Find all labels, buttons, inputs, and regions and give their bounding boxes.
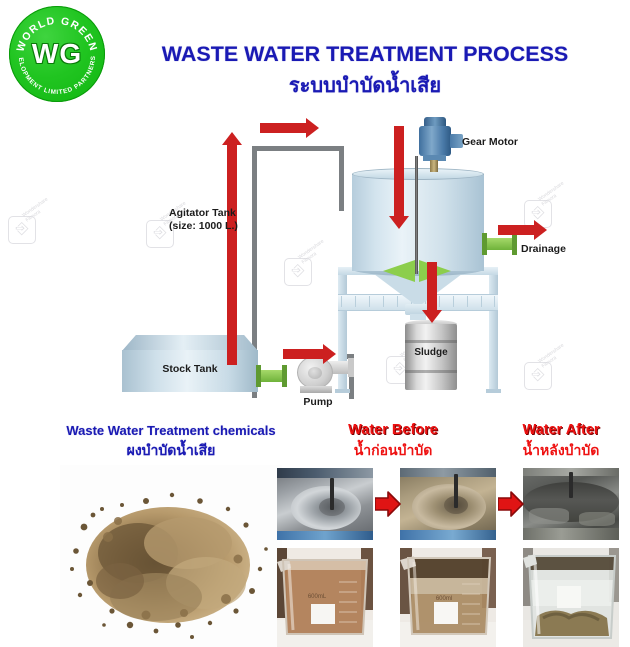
gear-motor-label: Gear Motor	[462, 136, 518, 148]
platform-foot-right	[486, 389, 501, 393]
gear-motor-body	[419, 126, 451, 156]
tank-photo-floor	[400, 530, 496, 540]
tank-photo-floor	[277, 531, 373, 540]
arrow-right-icon	[375, 491, 401, 517]
platform-foot-left	[335, 389, 350, 393]
chemicals-label-en: Waste Water Treatment chemicals	[38, 423, 304, 438]
tank-photo-stage-1	[277, 468, 373, 540]
pipe-downspout	[339, 146, 344, 211]
pump-hub	[308, 367, 322, 379]
page-title-en: WASTE WATER TREATMENT PROCESS	[120, 42, 610, 67]
tank-photo-floor	[523, 528, 619, 540]
water-before-label-th: น้ำก่อนบำบัด	[318, 440, 468, 462]
stock-valve-flange-left	[256, 365, 261, 387]
beaker-photo-stage-3	[523, 548, 619, 647]
drainage-flange-right	[512, 233, 517, 255]
gear-motor-coupling	[430, 160, 438, 172]
tank-photo-shaft	[569, 472, 573, 498]
pipe-horizontal-top	[252, 146, 344, 151]
tank-photo-shaft	[330, 478, 334, 510]
stock-tank-outlet-valve	[258, 370, 284, 382]
powder-photo	[60, 465, 282, 647]
tank-photo-shaft	[454, 474, 458, 508]
beaker-clear-with-sediment	[523, 548, 619, 647]
drainage-valve	[484, 238, 514, 250]
world-green-logo: WORLD GREEN DEVELOPMENT LIMITED PARTNERS…	[9, 6, 105, 102]
watermark-text: WondershareFilmora	[537, 342, 568, 369]
impeller-propeller	[383, 260, 451, 282]
water-after-label-en: Water After	[492, 422, 630, 438]
logo-initials: WG	[9, 39, 105, 69]
tank-photo-rim	[277, 468, 373, 478]
platform-leg-right	[489, 267, 498, 389]
pump-base	[300, 386, 332, 393]
tank-photo-rim	[400, 468, 496, 477]
water-before-label-en: Water Before	[318, 422, 468, 438]
process-diagram: ⎆ WondershareFilmora ⎆ WondershareFilmor…	[0, 108, 630, 413]
tank-top-rim	[352, 168, 484, 180]
svg-text:600ml: 600ml	[436, 596, 452, 602]
beaker-turbid: 600mL	[277, 548, 373, 647]
drainage-label: Drainage	[521, 243, 566, 255]
tank-photo-sludge-highlight	[529, 508, 569, 524]
tank-photo-sludge-highlight	[579, 512, 615, 526]
page-title-th: ระบบบำบัดน้ำเสีย	[120, 69, 610, 101]
pump-discharge-flange	[348, 358, 354, 377]
pump-label: Pump	[288, 396, 348, 408]
beaker-photo-stage-2: 600ml	[400, 548, 496, 647]
agitator-tank-body	[352, 174, 484, 271]
tank-photo-stage-2	[400, 468, 496, 540]
process-arrow-2	[498, 491, 524, 517]
watermark-text: WondershareFilmora	[537, 180, 568, 207]
water-after-label-th: น้ำหลังบำบัด	[492, 440, 630, 462]
process-arrow-1	[375, 491, 401, 517]
sludge-label: Sludge	[405, 347, 457, 358]
sludge-drum-rib	[405, 340, 457, 343]
impeller-blade-left	[383, 260, 415, 282]
beaker-partially-clear: 600ml	[400, 548, 496, 647]
sludge-drum-rib	[405, 370, 457, 373]
waste-water-treatment-infographic: WORLD GREEN DEVELOPMENT LIMITED PARTNERS…	[0, 0, 630, 647]
stock-tank-label: Stock Tank	[122, 363, 258, 375]
chemicals-label-th: ผงบำบัดน้ำเสีย	[38, 440, 304, 462]
agitator-tank-label-line2: (size: 1000 L.)	[169, 220, 238, 232]
beaker-photo-stage-1: 600mL	[277, 548, 373, 647]
agitator-tank-label-line1: Agitator Tank	[169, 207, 236, 219]
watermark-text: WondershareFilmora	[21, 196, 52, 223]
watermark-text: WondershareFilmora	[297, 238, 328, 265]
agitator-shaft	[415, 156, 418, 274]
drainage-flange-left	[482, 233, 487, 255]
powder-pile	[60, 465, 282, 647]
stock-tank-lid	[122, 335, 258, 351]
svg-text:600mL: 600mL	[308, 594, 327, 600]
arrow-right-icon	[498, 491, 524, 517]
stock-valve-flange-right	[282, 365, 287, 387]
tank-photo-stage-3	[523, 468, 619, 540]
